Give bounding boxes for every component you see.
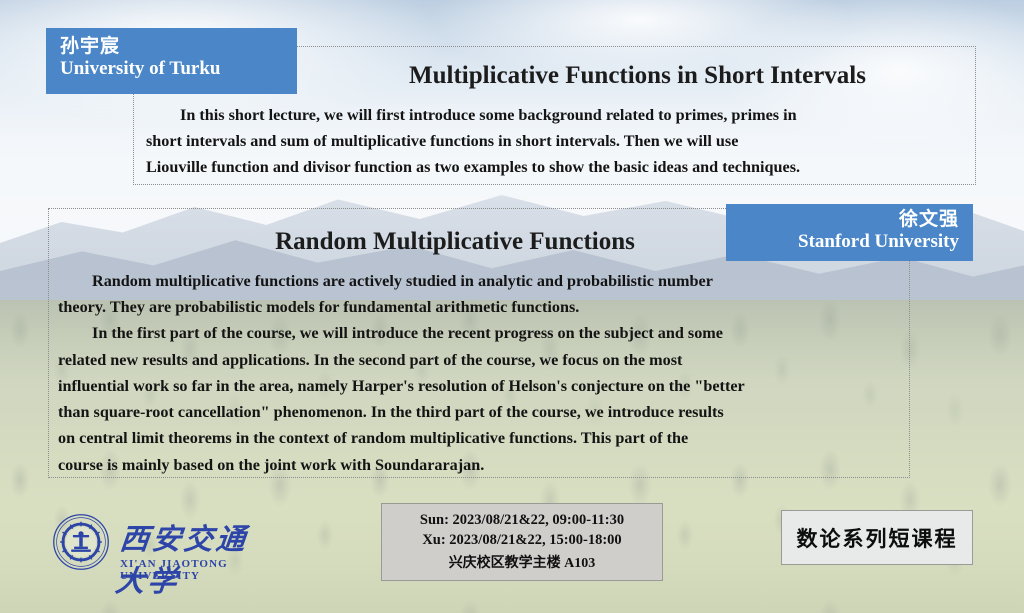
university-name-en: XI'AN JIAOTONG UNIVERSITY <box>120 558 267 582</box>
poster: 孙宇宸 University of Turku Multiplicative F… <box>0 0 1024 613</box>
abstract-line: course is mainly based on the joint work… <box>58 452 908 478</box>
abstract-line: related new results and applications. In… <box>58 347 908 373</box>
speaker-badge-1: 孙宇宸 University of Turku <box>46 28 297 94</box>
series-badge-label: 数论系列短课程 <box>797 523 958 553</box>
abstract-line: Liouville function and divisor function … <box>146 154 968 180</box>
xjtu-seal-icon <box>52 513 110 571</box>
talk-title-1: Multiplicative Functions in Short Interv… <box>300 62 975 90</box>
abstract-line: influential work so far in the area, nam… <box>58 373 908 399</box>
talk-abstract-2: Random multiplicative functions are acti… <box>58 268 908 478</box>
talk-title-2: Random Multiplicative Functions <box>60 228 850 256</box>
speaker-name-cn-1: 孙宇宸 <box>60 36 297 58</box>
abstract-line: short intervals and sum of multiplicativ… <box>146 128 968 154</box>
schedule-venue: 兴庆校区教学主楼 A103 <box>449 552 596 572</box>
schedule-line-1: Sun: 2023/08/21&22, 09:00-11:30 <box>420 512 624 529</box>
series-badge: 数论系列短课程 <box>781 510 973 565</box>
speaker-affiliation-1: University of Turku <box>60 58 297 80</box>
schedule-box: Sun: 2023/08/21&22, 09:00-11:30 Xu: 2023… <box>381 503 663 581</box>
abstract-line: theory. They are probabilistic models fo… <box>58 294 908 320</box>
talk-abstract-1: In this short lecture, we will first int… <box>146 102 968 181</box>
abstract-line: Random multiplicative functions are acti… <box>58 268 908 294</box>
abstract-line: In the first part of the course, we will… <box>58 320 908 346</box>
university-logo: 西安交通大学 XI'AN JIAOTONG UNIVERSITY <box>52 510 267 580</box>
abstract-line: In this short lecture, we will first int… <box>146 102 968 128</box>
schedule-line-2: Xu: 2023/08/21&22, 15:00-18:00 <box>422 532 621 549</box>
abstract-line: on central limit theorems in the context… <box>58 425 908 451</box>
abstract-line: than square-root cancellation" phenomeno… <box>58 399 908 425</box>
